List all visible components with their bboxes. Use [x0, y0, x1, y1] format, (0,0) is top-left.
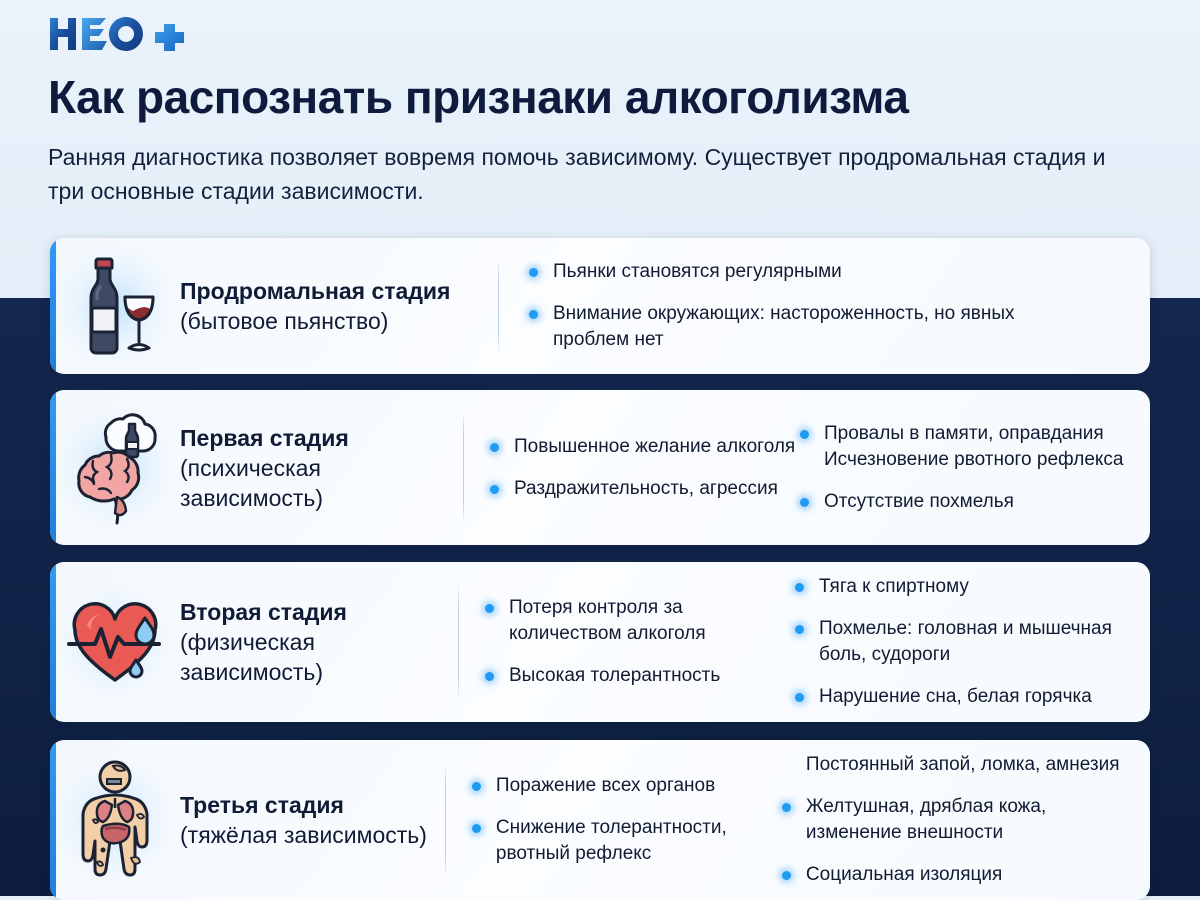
- bullet-column: Провалы в памяти, оправдания Исчезновени…: [800, 421, 1150, 515]
- list-item-label: Тяга к спиртному: [819, 576, 969, 597]
- stage-title-normal: (психическая зависимость): [180, 453, 445, 513]
- list-item-label: Раздражительность, агрессия: [514, 478, 778, 499]
- list-item: Похмелье: головная и мышечная боль, судо…: [795, 616, 1150, 668]
- bullet-column: Потеря контроля за количеством алкоголя …: [485, 595, 795, 689]
- wine-bottle-and-glass-icon: [50, 253, 180, 359]
- list-item-label: Похмелье: головная и мышечная боль, судо…: [819, 618, 1112, 665]
- list-item: Пьянки становятся регулярными: [529, 259, 1049, 285]
- bullet-dot-icon: [795, 583, 804, 592]
- stage-title-bold: Первая стадия: [180, 423, 445, 453]
- bullet-dot-icon: [490, 443, 499, 452]
- bullet-column: Тяга к спиртному Похмелье: головная и мы…: [795, 574, 1150, 710]
- list-item-label: Внимание окружающих: настороженность, но…: [553, 303, 1015, 350]
- bullet-column: Пьянки становятся регулярными Внимание о…: [529, 259, 1049, 353]
- bullet-dot-icon: [795, 693, 804, 702]
- stage-card-second-stage[interactable]: Вторая стадия (физическая зависимость) П…: [50, 562, 1150, 722]
- list-item: Снижение толерантности, рвотный рефлекс: [472, 815, 782, 867]
- stage-title-bold: Вторая стадия: [180, 597, 440, 627]
- bullet-dot-icon: [485, 672, 494, 681]
- bullet-column: Повышенное желание алкоголя Раздражитель…: [490, 434, 800, 502]
- human-body-organs-icon: [50, 758, 180, 882]
- bullet-dot-icon: [782, 803, 791, 812]
- bullet-column: Поражение всех органов Снижение толерант…: [472, 773, 782, 867]
- bullet-dot-icon: [782, 871, 791, 880]
- stage-card-third-stage[interactable]: Третья стадия (тяжёлая зависимость) Пора…: [50, 740, 1150, 900]
- list-item-label: Снижение толерантности, рвотный рефлекс: [496, 817, 727, 864]
- stage-title-normal: (бытовое пьянство): [180, 306, 480, 336]
- list-item: Раздражительность, агрессия: [490, 476, 800, 502]
- list-item-label: Поражение всех органов: [496, 775, 715, 796]
- bullet-dot-icon: [529, 268, 538, 277]
- bullet-dot-icon: [472, 782, 481, 791]
- list-item: Высокая толерантность: [485, 663, 795, 689]
- page-subtitle: Ранняя диагностика позволяет вовремя пом…: [48, 140, 1108, 208]
- stage-title-second-stage: Вторая стадия (физическая зависимость): [180, 597, 458, 687]
- page-title: Как распознать признаки алкоголизма: [48, 70, 1168, 124]
- list-item-label: Повышенное желание алкоголя: [514, 436, 795, 457]
- list-item: Провалы в памяти, оправдания Исчезновени…: [800, 421, 1150, 473]
- list-item: Внимание окружающих: настороженность, но…: [529, 301, 1049, 353]
- list-item-label: Потеря контроля за количеством алкоголя: [509, 597, 706, 644]
- list-item: Повышенное желание алкоголя: [490, 434, 800, 460]
- list-item: Потеря контроля за количеством алкоголя: [485, 595, 795, 647]
- list-item-label: Отсутствие похмелья: [824, 491, 1014, 512]
- bullet-dot-icon: [800, 498, 809, 507]
- list-item-label: Постоянный запой, ломка, амнезия: [806, 754, 1120, 775]
- bullet-dot-icon: [472, 824, 481, 833]
- bullet-dot-icon: [529, 310, 538, 319]
- list-item-label: Пьянки становятся регулярными: [553, 261, 842, 282]
- stage-card-first-stage[interactable]: Первая стадия (психическая зависимость) …: [50, 390, 1150, 545]
- stage-title-third-stage: Третья стадия (тяжёлая зависимость): [180, 790, 445, 850]
- list-item: Постоянный запой, ломка, амнезия: [782, 752, 1137, 778]
- stage-title-prodromal: Продромальная стадия (бытовое пьянство): [180, 276, 498, 336]
- bullet-dot-icon: [490, 485, 499, 494]
- list-item-label: Высокая толерантность: [509, 665, 720, 686]
- stage-title-normal: (физическая зависимость): [180, 627, 440, 687]
- brain-with-thought-bubble-icon: [50, 409, 180, 527]
- list-item-label: Социальная изоляция: [806, 864, 1002, 885]
- stage-title-first-stage: Первая стадия (психическая зависимость): [180, 423, 463, 513]
- list-item: Нарушение сна, белая горячка: [795, 684, 1150, 710]
- bullet-column: Постоянный запой, ломка, амнезия Желтушн…: [782, 752, 1137, 888]
- list-item-label: Желтушная, дряблая кожа, изменение внешн…: [806, 796, 1046, 843]
- bullet-dot-icon: [795, 625, 804, 634]
- heart-with-pulse-icon: [50, 592, 180, 692]
- list-item: Тяга к спиртному: [795, 574, 1150, 600]
- stage-title-normal: (тяжёлая зависимость): [180, 820, 427, 850]
- list-item: Отсутствие похмелья: [800, 489, 1150, 515]
- stage-card-prodromal[interactable]: Продромальная стадия (бытовое пьянство) …: [50, 238, 1150, 374]
- list-item: Желтушная, дряблая кожа, изменение внешн…: [782, 794, 1137, 846]
- list-item-label: Нарушение сна, белая горячка: [819, 686, 1092, 707]
- bullet-dot-icon: [800, 430, 809, 439]
- list-item-label: Провалы в памяти, оправдания Исчезновени…: [824, 423, 1123, 470]
- neo-plus-logo: [48, 12, 198, 56]
- list-item: Социальная изоляция: [782, 862, 1137, 888]
- stage-title-bold: Третья стадия: [180, 790, 427, 820]
- bullet-dot-icon: [485, 604, 494, 613]
- list-item: Поражение всех органов: [472, 773, 782, 799]
- stage-title-bold: Продромальная стадия: [180, 276, 480, 306]
